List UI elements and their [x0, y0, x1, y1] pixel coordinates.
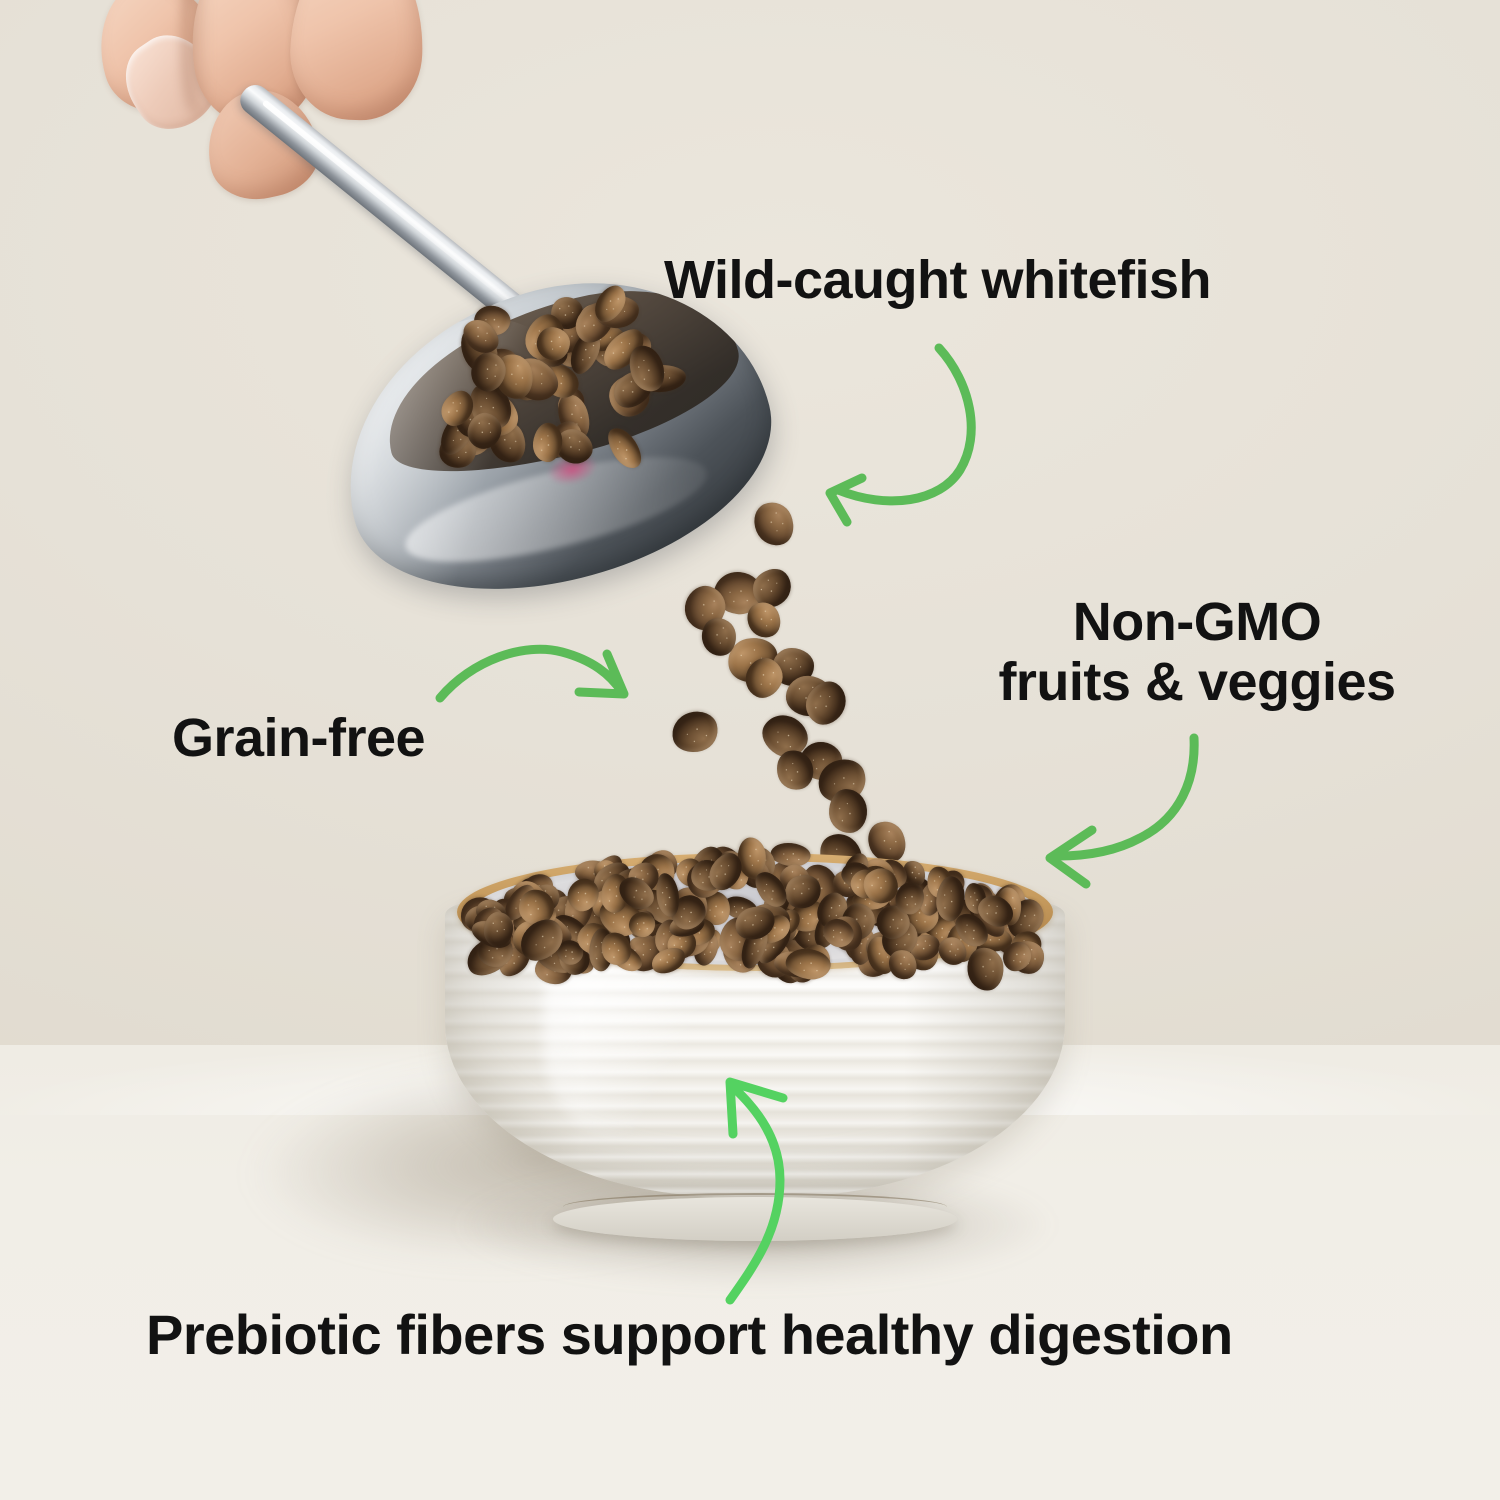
- kibble-piece: [828, 788, 868, 834]
- label-non-gmo-line1: Non-GMO: [962, 592, 1432, 652]
- label-prebiotic-fibers: Prebiotic fibers support healthy digesti…: [146, 1304, 1233, 1367]
- label-wild-caught-whitefish: Wild-caught whitefish: [664, 250, 1211, 310]
- kibble-piece: [748, 496, 800, 551]
- label-grain-free: Grain-free: [172, 708, 425, 768]
- label-non-gmo-fruits-veggies: Non-GMO fruits & veggies: [962, 592, 1432, 713]
- bowl-foot-edge: [563, 1193, 947, 1221]
- ceramic-bowl: [445, 845, 1065, 1235]
- kibble-in-bowl: [479, 835, 1031, 971]
- label-non-gmo-line2: fruits & veggies: [962, 652, 1432, 712]
- kibble-piece: [667, 706, 722, 757]
- infographic-canvas: Wild-caught whitefish Grain-free Non-GMO…: [0, 0, 1500, 1500]
